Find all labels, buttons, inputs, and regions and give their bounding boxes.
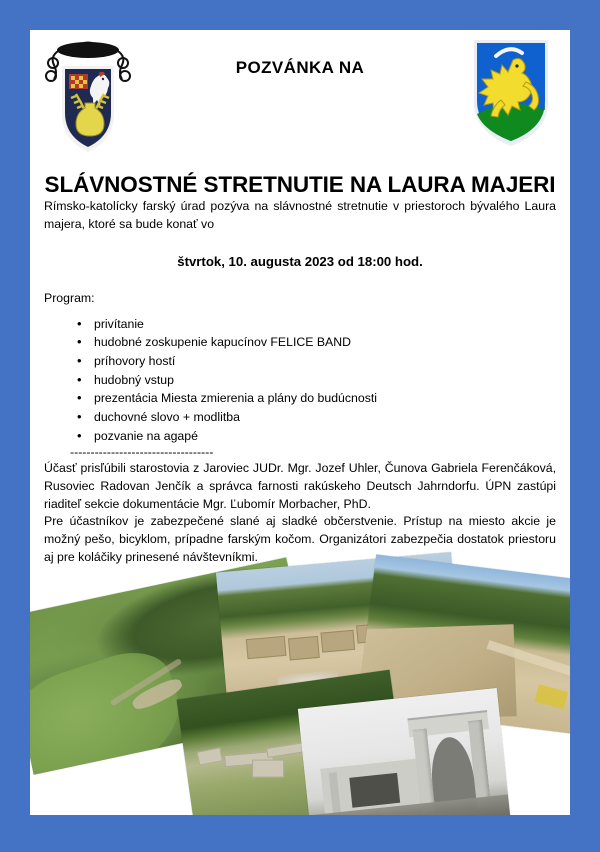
meadow-area (30, 641, 195, 775)
wall-stub (321, 630, 355, 653)
program-label: Program: (44, 291, 556, 305)
list-item: duchovné slovo + modlitba (44, 408, 556, 427)
yellow-marker (535, 684, 569, 710)
program-list: privítanie hudobné zoskupenie kapucínov … (44, 315, 556, 446)
stone-block (252, 760, 284, 778)
list-item: prezentácia Miesta zmierenia a plány do … (44, 389, 556, 408)
intro-paragraph: Rímsko-katolícky farský úrad pozýva na s… (44, 198, 556, 234)
village-coat-of-arms-icon (456, 30, 566, 154)
photo-collage (30, 578, 570, 815)
list-item: hudobný vstup (44, 371, 556, 390)
list-item: hudobné zoskupenie kapucínov FELICE BAND (44, 333, 556, 352)
wall-stub (245, 636, 286, 659)
flyer-header: POZVÁNKA NA (30, 30, 570, 160)
parish-coat-of-arms-icon (36, 32, 140, 156)
page-title: SLÁVNOSTNÉ STRETNUTIE NA LAURA MAJERI (30, 172, 570, 198)
event-date-line: štvrtok, 10. augusta 2023 od 18:00 hod. (44, 254, 556, 269)
wall-stub (288, 636, 320, 660)
list-item: príhovory hostí (44, 352, 556, 371)
list-item: privítanie (44, 315, 556, 334)
guests-paragraph: Účasť prisľúbili starostovia z Jaroviec … (44, 460, 556, 513)
flyer-body: Rímsko-katolícky farský úrad pozýva na s… (30, 198, 570, 567)
list-item: pozvanie na agapé (44, 427, 556, 446)
photo-historic-bw (298, 688, 512, 815)
flyer-page: POZVÁNKA NA SLÁVNOSTNÉ STRETNUTIE NA LAU… (30, 30, 570, 815)
dark-doorway (349, 773, 400, 807)
stone-block (197, 748, 223, 766)
info-paragraph: Pre účastníkov je zabezpečené slané aj s… (44, 513, 556, 566)
section-divider: ----------------------------------- (70, 446, 556, 460)
